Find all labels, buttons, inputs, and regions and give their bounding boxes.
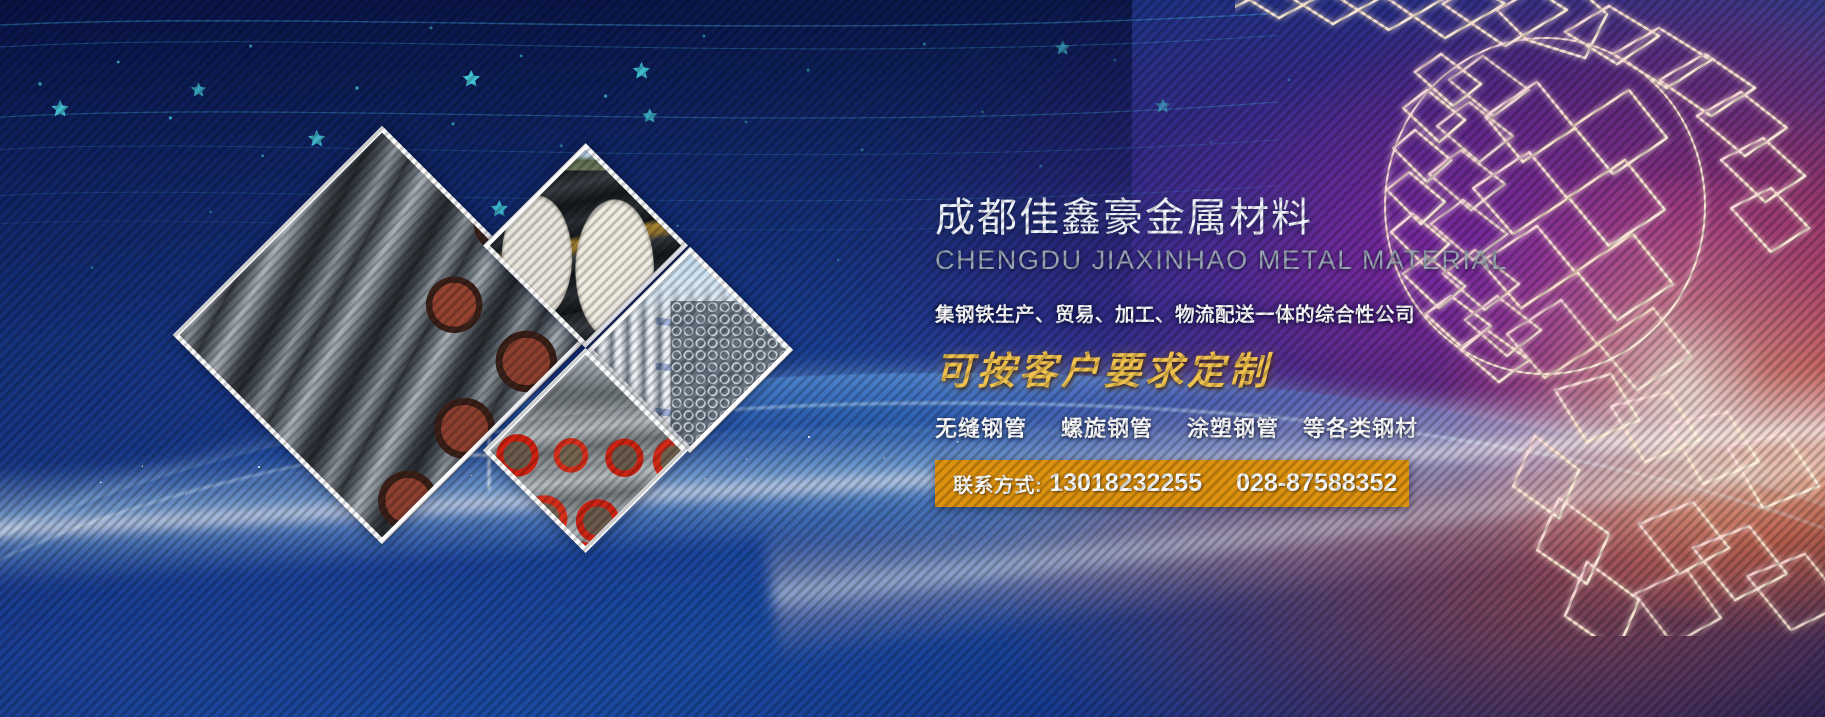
banner-text-block: 成都佳鑫豪金属材料 CHENGDU JIAXINHAO METAL MATERI…	[935, 196, 1455, 507]
contact-phone-landline[interactable]: 028-87588352	[1236, 469, 1397, 498]
product-item-spiral: 螺旋钢管	[1061, 411, 1153, 443]
product-list: 无缝钢管 螺旋钢管 涂塑钢管 等各类钢材	[935, 411, 1455, 443]
product-item-coated: 涂塑钢管	[1187, 411, 1279, 443]
company-title-cn: 成都佳鑫豪金属材料	[935, 196, 1455, 241]
contact-phone-mobile[interactable]: 13018232255	[1049, 469, 1202, 498]
company-subtitle: 集钢铁生产、贸易、加工、物流配送一体的综合性公司	[935, 298, 1455, 327]
promo-banner: 成都佳鑫豪金属材料 CHENGDU JIAXINHAO METAL MATERI…	[0, 0, 1825, 717]
custom-order-slogan: 可按客户要求定制	[935, 340, 1455, 395]
product-item-seamless: 无缝钢管	[935, 411, 1027, 443]
contact-label: 联系方式:	[953, 469, 1042, 498]
company-title-en: CHENGDU JIAXINHAO METAL MATERIAL	[935, 245, 1455, 276]
contact-bar: 联系方式: 13018232255 028-87588352	[935, 460, 1409, 507]
product-photo-collage	[0, 0, 900, 717]
product-item-others: 等各类钢材	[1303, 411, 1418, 443]
